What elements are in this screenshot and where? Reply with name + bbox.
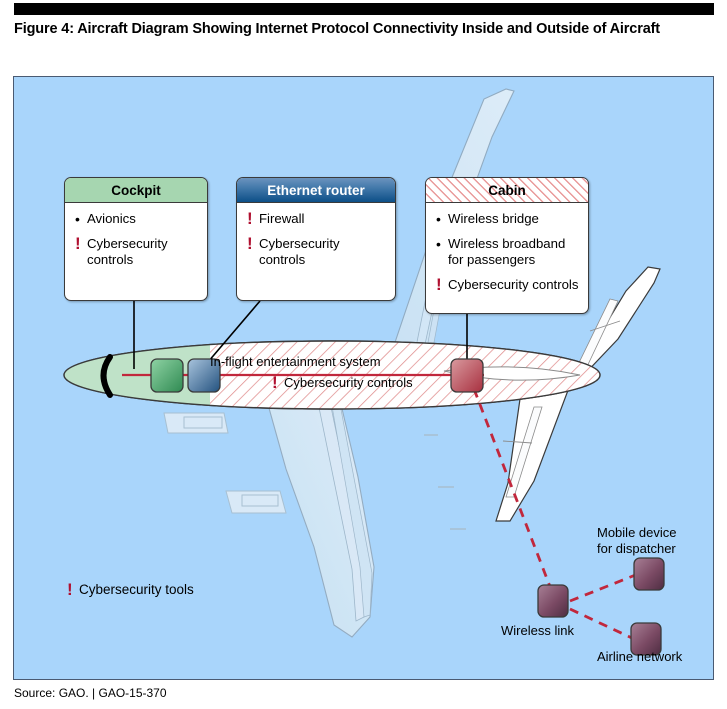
list-item-label: Cybersecurity controls	[87, 236, 198, 268]
list-item: • Wireless broadband for passengers	[436, 236, 579, 268]
node-cabin-bridge	[451, 359, 483, 392]
source-line: Source: GAO. | GAO-15-370	[14, 686, 167, 700]
alert-icon: !	[67, 582, 79, 597]
node-wireless-link	[538, 585, 568, 617]
list-item-label-line2: for passengers	[448, 252, 579, 268]
label-wireless-link: Wireless link	[501, 623, 574, 639]
alert-icon: !	[75, 236, 87, 251]
list-item: ! Cybersecurity controls	[247, 236, 386, 268]
list-item: ! Firewall	[247, 211, 386, 227]
node-avionics	[151, 359, 183, 392]
list-item-label: Wireless broadband	[448, 236, 565, 251]
bullet-icon: •	[436, 236, 448, 252]
figure-panel: Cockpit • Avionics ! Cybersecurity contr…	[13, 76, 714, 680]
info-box-ethernet-router[interactable]: Ethernet router ! Firewall ! Cybersecuri…	[236, 177, 396, 301]
figure-title: Figure 4: Aircraft Diagram Showing Inter…	[14, 20, 674, 39]
label-airline-network: Airline network	[597, 649, 682, 665]
list-item-label: Firewall	[259, 211, 386, 227]
link-wireless-to-airline	[570, 609, 634, 639]
box-title-cockpit: Cockpit	[65, 178, 207, 203]
bullet-icon: •	[75, 211, 87, 227]
legend-label: Cybersecurity tools	[79, 582, 194, 597]
ife-controls-label: ! Cybersecurity controls	[272, 375, 413, 390]
ife-controls-text: Cybersecurity controls	[284, 375, 413, 390]
near-wing	[164, 383, 466, 637]
label-mobile-device-line2: for dispatcher	[597, 541, 676, 556]
list-item-label: Avionics	[87, 211, 198, 227]
alert-icon: !	[247, 211, 259, 226]
box-body-cockpit: • Avionics ! Cybersecurity controls	[65, 203, 207, 274]
link-wireless-to-mobile	[570, 574, 638, 601]
list-item-label: Cybersecurity controls	[259, 236, 386, 268]
node-mobile-device	[634, 558, 664, 590]
info-box-cockpit[interactable]: Cockpit • Avionics ! Cybersecurity contr…	[64, 177, 208, 301]
box-title-ethernet-router: Ethernet router	[237, 178, 395, 203]
alert-icon: !	[436, 277, 448, 292]
list-item: ! Cybersecurity controls	[75, 236, 198, 268]
title-top-rule	[14, 3, 714, 15]
alert-icon: !	[272, 375, 284, 390]
list-item: • Avionics	[75, 211, 198, 227]
label-mobile-device-line1: Mobile device	[597, 525, 677, 540]
legend-cybersecurity-tools: ! Cybersecurity tools	[67, 582, 194, 597]
alert-icon: !	[247, 236, 259, 251]
box-title-cabin: Cabin	[426, 178, 588, 203]
info-box-cabin[interactable]: Cabin • Wireless bridge • Wireless broad…	[425, 177, 589, 314]
list-item-label: Cybersecurity controls	[448, 277, 579, 293]
list-item: • Wireless bridge	[436, 211, 579, 227]
bullet-icon: •	[436, 211, 448, 227]
box-body-cabin: • Wireless bridge • Wireless broadband f…	[426, 203, 588, 299]
box-body-ethernet-router: ! Firewall ! Cybersecurity controls	[237, 203, 395, 274]
label-mobile-device: Mobile device for dispatcher	[597, 525, 677, 557]
list-item: ! Cybersecurity controls	[436, 277, 579, 293]
ife-label: In-flight entertainment system	[210, 354, 381, 369]
list-item-label: Wireless bridge	[448, 211, 579, 227]
